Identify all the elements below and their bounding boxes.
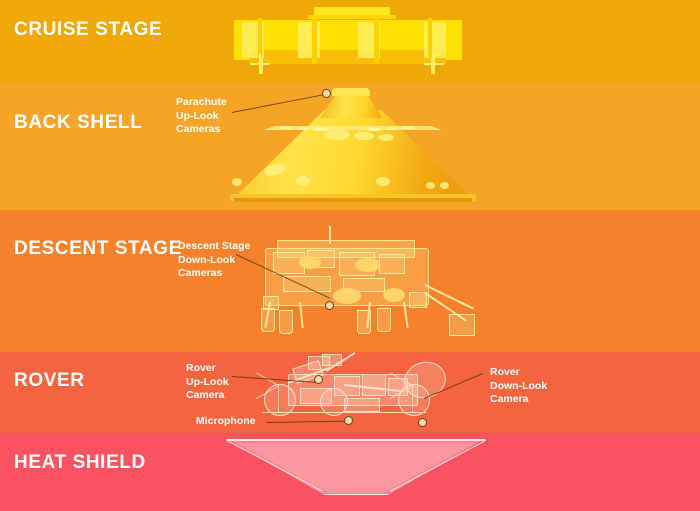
- descent-stage-thruster: [261, 308, 275, 332]
- stage-band-heat-shield: HEAT SHIELD: [0, 433, 700, 511]
- back-shell-cone: [234, 110, 472, 198]
- stage-band-rover: ROVER Rover Up-Lo: [0, 352, 700, 433]
- infographic-canvas: CRUISE STAGE BACK SHELL: [0, 0, 700, 511]
- cruise-stage-illustration: [228, 2, 468, 80]
- descent-stage-thruster: [377, 308, 391, 332]
- back-shell-detail-dash: [298, 127, 308, 130]
- rover-illustration: [248, 354, 463, 430]
- back-shell-hatch: [324, 130, 350, 140]
- stage-label-heat-shield: HEAT SHIELD: [14, 452, 146, 474]
- callout-rover-down-look-camera: Rover Down-Look Camera: [490, 366, 547, 407]
- marker-descent-stage-down-look-cameras: [325, 301, 334, 310]
- cruise-top-bar-lower: [308, 15, 396, 19]
- stage-label-descent-stage: DESCENT STAGE: [14, 238, 182, 260]
- callout-descent-stage-down-look-cameras: Descent Stage Down-Look Cameras: [178, 240, 250, 281]
- back-shell-port: [376, 177, 390, 186]
- cruise-strut: [312, 18, 317, 64]
- stage-label-rover: ROVER: [14, 370, 85, 392]
- descent-stage-thruster: [279, 310, 293, 334]
- heat-shield-top-edge: [226, 439, 486, 441]
- back-shell-hatch: [378, 134, 394, 141]
- marker-parachute-up-look-cameras: [322, 89, 331, 98]
- back-shell-port: [232, 178, 242, 186]
- heat-shield-illustration: [222, 439, 490, 501]
- descent-stage-tank: [299, 256, 321, 269]
- marker-rover-down-look-camera: [418, 418, 427, 427]
- marker-microphone: [344, 416, 353, 425]
- descent-stage-winch: [449, 314, 475, 336]
- rover-wheel-spoke: [278, 386, 279, 412]
- back-shell-detail-dash: [386, 127, 396, 130]
- back-shell-detail-dash: [402, 126, 414, 129]
- cruise-ring-underside: [250, 50, 446, 64]
- stage-label-cruise-stage: CRUISE STAGE: [14, 19, 162, 41]
- back-shell-port: [440, 182, 449, 189]
- back-shell-port: [426, 182, 435, 189]
- cruise-thruster-plume: [250, 54, 270, 74]
- back-shell-detail-dash: [368, 128, 380, 131]
- rover-instrument-box: [362, 374, 386, 396]
- stage-band-descent-stage: DESCENT STAGE: [0, 210, 700, 352]
- rover-belly-line: [262, 412, 426, 413]
- back-shell-detail-dash: [314, 128, 328, 131]
- back-shell-illustration: [228, 82, 478, 210]
- descent-stage-illustration: [243, 226, 475, 348]
- cruise-thruster-plume: [424, 54, 444, 74]
- descent-stage-thruster: [357, 310, 371, 334]
- callout-parachute-up-look-cameras: Parachute Up-Look Cameras: [176, 96, 227, 137]
- back-shell-parachute-cover: [332, 88, 370, 96]
- stage-label-back-shell: BACK SHELL: [14, 112, 142, 134]
- descent-stage-tank: [355, 258, 381, 272]
- callout-microphone: Microphone: [196, 415, 256, 429]
- stage-band-back-shell: BACK SHELL Parachute Up-Look Camer: [0, 82, 700, 210]
- callout-rover-up-look-camera: Rover Up-Look Camera: [186, 362, 229, 403]
- heat-shield-bottom-edge: [324, 494, 388, 495]
- marker-rover-up-look-camera: [314, 375, 323, 384]
- descent-stage-panel: [379, 254, 405, 274]
- descent-stage-tank: [333, 288, 361, 304]
- rover-mast-head: [322, 354, 342, 366]
- heat-shield-inner-face: [232, 443, 480, 493]
- stage-band-cruise-stage: CRUISE STAGE: [0, 0, 700, 82]
- rover-chassis-panel: [344, 398, 380, 412]
- back-shell-rim-shadow: [234, 198, 472, 202]
- back-shell-port: [296, 176, 310, 186]
- cruise-strut: [374, 18, 379, 64]
- back-shell-hatch: [354, 132, 374, 140]
- back-shell-detail-dash: [280, 126, 292, 129]
- descent-stage-tank: [383, 288, 405, 302]
